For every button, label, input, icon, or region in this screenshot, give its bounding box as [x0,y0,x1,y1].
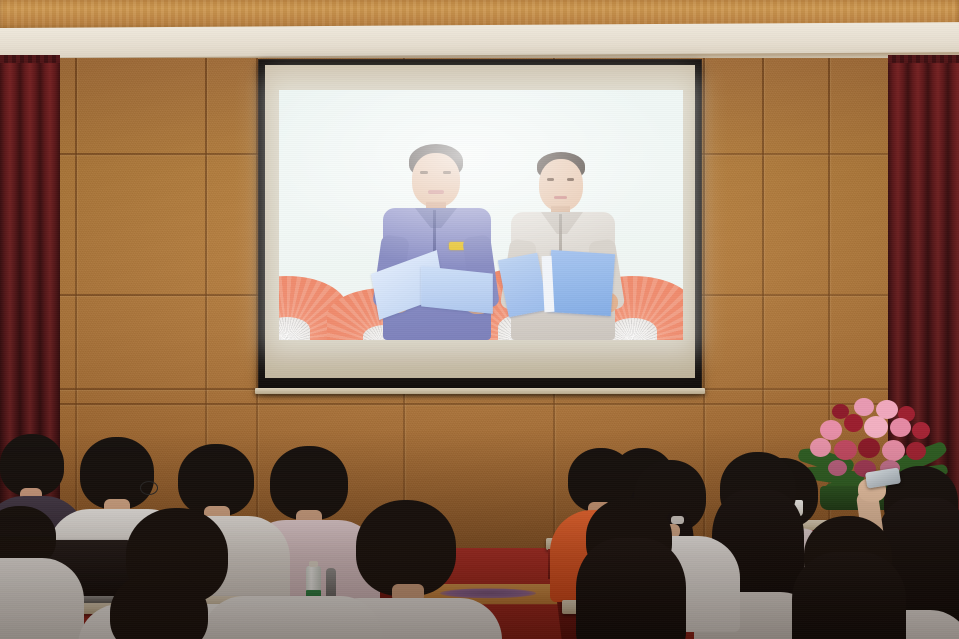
audience-person-b6 [560,498,700,639]
long-hair [576,538,686,639]
video-presenter-left [379,144,509,340]
presenter-left-head [412,153,460,207]
rose-bloom [858,438,880,458]
presenter-right-folder-page-right [547,250,615,316]
curtain-right-header [888,55,959,63]
presenter-left-folder-page-right [421,266,493,314]
audience-person-b10 [202,596,382,639]
rose-bloom [912,422,930,439]
projected-video-image [279,90,683,340]
projection-screen [259,60,701,390]
lily-bloom [890,418,911,437]
lily-bloom [820,420,842,440]
rose-bloom [844,414,863,432]
audience-person-b9 [96,572,222,639]
rose-bloom [906,442,926,460]
presenter-right-head [539,159,583,211]
eyeglasses-icon [140,481,158,495]
curtain-left-header [0,55,60,63]
lily-bloom [834,440,857,460]
audience-person-b8 [776,516,916,639]
long-hair [792,552,906,639]
video-presenter-right [509,152,629,340]
lily-bloom [864,416,888,438]
lily-bloom [882,440,905,461]
lily-bloom [854,398,874,416]
audience-person-b1 [0,500,70,639]
conference-hall-scene [0,0,959,639]
projection-screen-bottom-rail [255,388,705,394]
